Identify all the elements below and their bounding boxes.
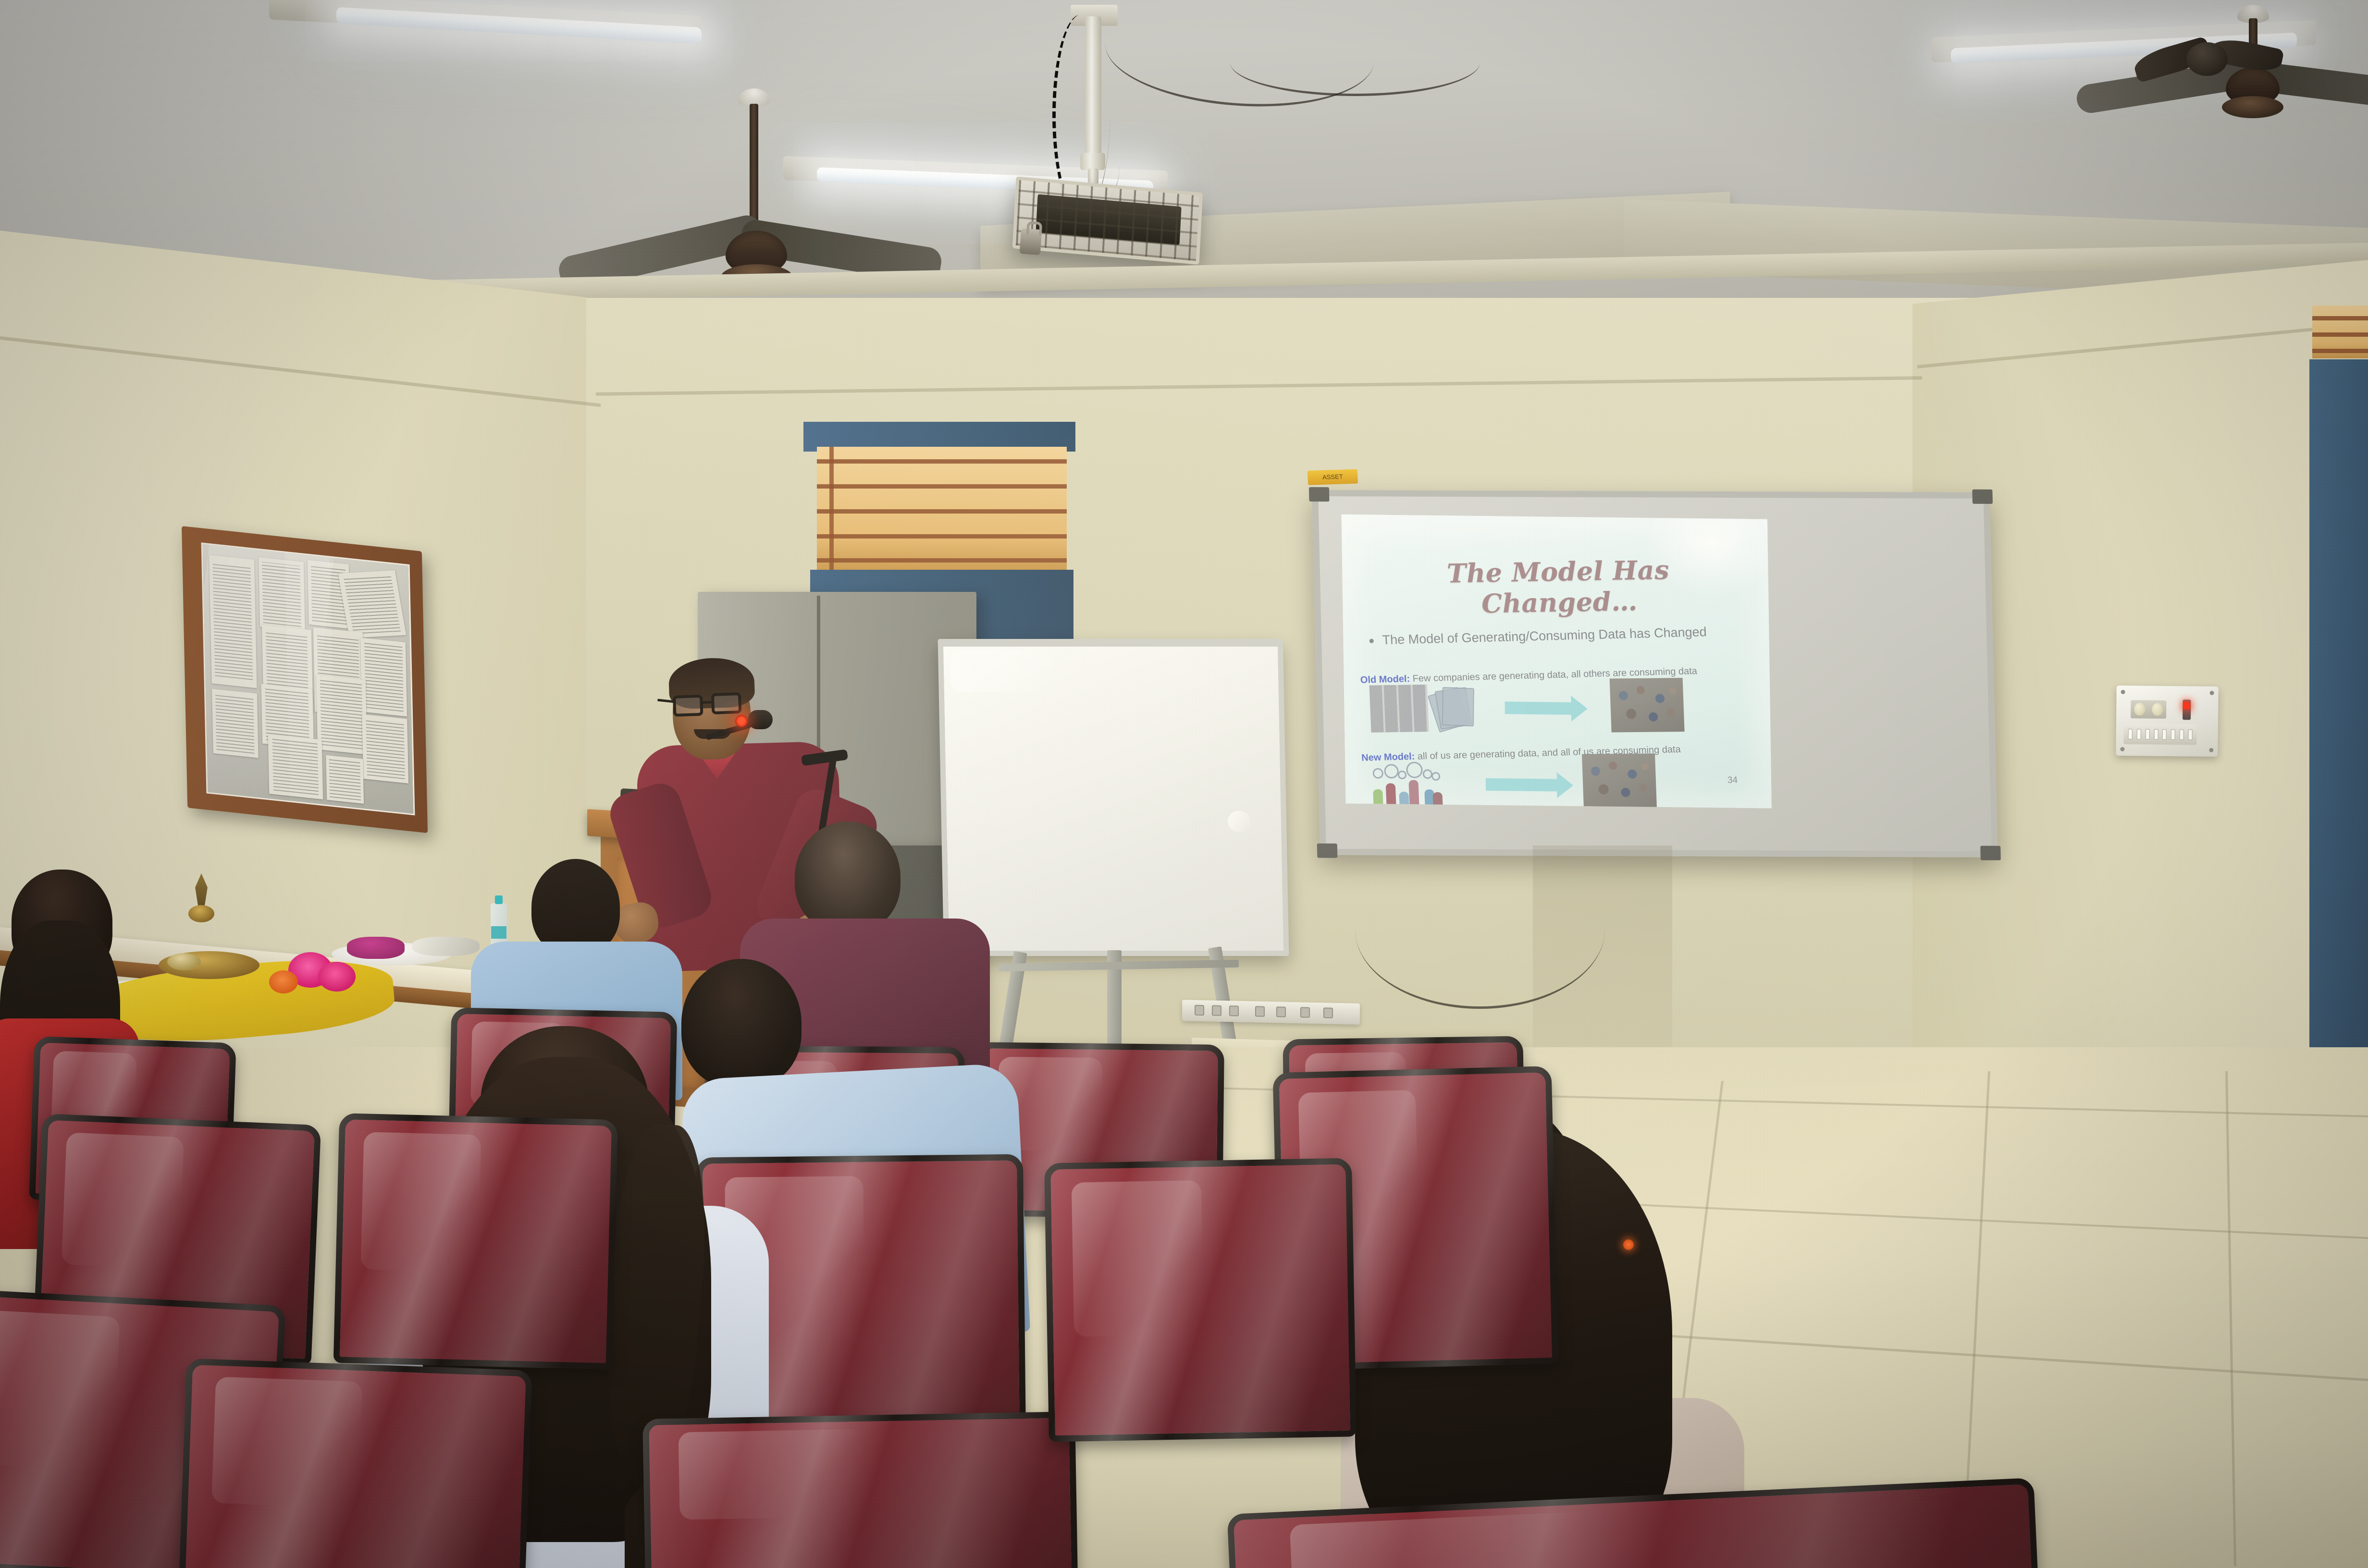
window-bar bbox=[817, 484, 1067, 489]
display-case-glass bbox=[201, 542, 415, 815]
microphone-head bbox=[748, 710, 773, 729]
indicator-led-icon bbox=[2183, 702, 2190, 709]
glasses-bridge bbox=[702, 701, 713, 704]
chair-backrest bbox=[179, 1359, 532, 1568]
lens-right bbox=[711, 692, 741, 714]
lens-left bbox=[673, 695, 703, 717]
audience-head bbox=[531, 859, 620, 955]
slide-bullet: The Model of Generating/Consuming Data h… bbox=[1369, 624, 1754, 648]
panel-screw bbox=[2209, 748, 2213, 752]
flower-decoration bbox=[318, 962, 356, 992]
chair[interactable] bbox=[1044, 1158, 1357, 1442]
old-model-caption: Old Model: Few companies are generating … bbox=[1360, 664, 1759, 686]
window-bar bbox=[817, 558, 1067, 563]
whiteboard-glare bbox=[1227, 811, 1251, 832]
documents-stack-icon bbox=[1432, 687, 1480, 731]
seminar-hall-photo: ASSET The Model Has Changed… The Model o… bbox=[0, 0, 2368, 1568]
audience-head bbox=[795, 821, 900, 933]
chair[interactable] bbox=[179, 1359, 532, 1568]
panel-screw bbox=[2120, 747, 2124, 751]
door-right[interactable] bbox=[2309, 359, 2368, 1066]
projector-padlock-icon bbox=[1020, 228, 1042, 255]
chair[interactable] bbox=[642, 1411, 1078, 1568]
crowd-photo-thumbnail bbox=[1582, 753, 1657, 808]
old-model-label: Old Model: bbox=[1360, 674, 1410, 686]
transom-window bbox=[817, 447, 1067, 573]
newspaper-clipping bbox=[360, 637, 407, 717]
chair-backrest bbox=[333, 1113, 618, 1370]
slide-number: 34 bbox=[1727, 775, 1738, 786]
chair[interactable] bbox=[333, 1113, 618, 1370]
light-switches[interactable] bbox=[2123, 724, 2196, 745]
slide-title: The Model Has Changed… bbox=[1399, 553, 1718, 620]
transom-window-right bbox=[2312, 306, 2368, 358]
flow-arrow bbox=[1486, 778, 1558, 792]
window-bar bbox=[817, 534, 1067, 539]
screen-asset-sticker: ASSET bbox=[1307, 469, 1358, 485]
panel-screw bbox=[2210, 691, 2214, 695]
window-bar-vertical bbox=[829, 447, 834, 573]
people-group-icon bbox=[1369, 760, 1443, 808]
data-grid-thumbnail bbox=[1369, 685, 1429, 733]
screen-corner bbox=[1309, 487, 1330, 502]
slide-bullet-text: The Model of Generating/Consuming Data h… bbox=[1382, 625, 1707, 647]
microphone-led-icon bbox=[735, 715, 748, 727]
screen-cable bbox=[1355, 850, 1605, 1009]
window-bar bbox=[817, 509, 1067, 514]
bullet-dot bbox=[1369, 639, 1374, 643]
chair-backrest bbox=[1044, 1158, 1357, 1442]
oil-lamp-wick-cup bbox=[167, 953, 201, 970]
window-bar bbox=[2312, 332, 2368, 337]
window-bar bbox=[2312, 349, 2368, 353]
wall-switch-panel[interactable] bbox=[2116, 686, 2219, 757]
power-socket-strip[interactable] bbox=[1182, 1000, 1360, 1025]
projection-screen: ASSET The Model Has Changed… The Model o… bbox=[1312, 490, 1998, 857]
screen-corner bbox=[1317, 844, 1338, 858]
cage-mesh bbox=[1016, 180, 1199, 261]
whiteboard[interactable] bbox=[938, 639, 1289, 956]
newspaper-clipping bbox=[362, 714, 409, 784]
dimmer-knobs[interactable] bbox=[2131, 700, 2166, 719]
new-model-row: New Model: all of us are generating data… bbox=[1361, 745, 1761, 760]
newspaper-clipping bbox=[338, 570, 407, 638]
window-bar bbox=[2312, 316, 2368, 320]
old-model-row: Old Model: Few companies are generating … bbox=[1360, 667, 1759, 683]
earring-icon bbox=[1623, 1239, 1634, 1250]
window-bar bbox=[817, 459, 1067, 464]
chair-backrest bbox=[642, 1411, 1078, 1568]
crowd-photo-thumbnail bbox=[1610, 678, 1685, 732]
power-indicator bbox=[2183, 699, 2191, 720]
audience-head bbox=[681, 959, 802, 1088]
foil-plate bbox=[412, 937, 480, 956]
glass-glare bbox=[284, 542, 336, 815]
whiteboard-glare bbox=[950, 649, 1051, 692]
ceiling-cable bbox=[1230, 29, 1480, 96]
prasad-bowl bbox=[347, 937, 405, 959]
projected-slide: The Model Has Changed… The Model of Gene… bbox=[1342, 514, 1772, 808]
screen-corner bbox=[1972, 490, 1993, 504]
screen-corner bbox=[1980, 846, 2001, 860]
flow-arrow bbox=[1505, 701, 1572, 715]
notice-display-case[interactable] bbox=[182, 526, 428, 833]
panel-screw bbox=[2121, 690, 2125, 694]
flower-decoration bbox=[269, 970, 298, 993]
